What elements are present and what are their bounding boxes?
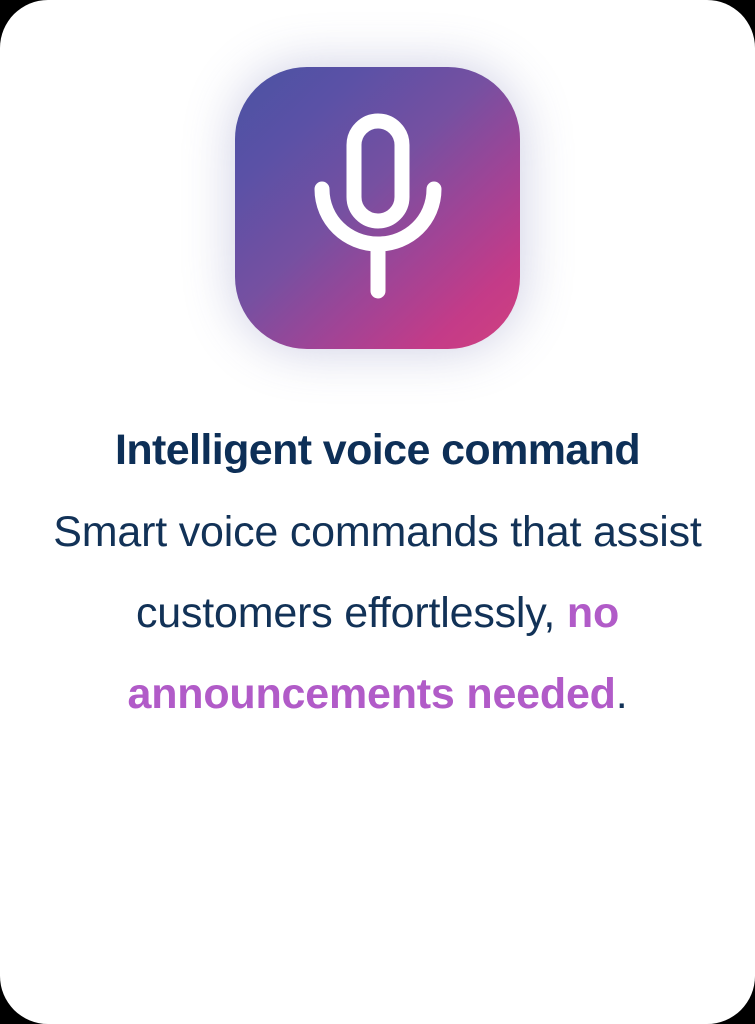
voice-icon-tile (235, 67, 520, 349)
voice-icon-container (235, 67, 520, 349)
feature-card: Intelligent voice command Smart voice co… (0, 0, 755, 1024)
description-tail: . (616, 670, 628, 718)
card-description: Smart voice commands that assist custome… (48, 492, 708, 734)
page-title: Intelligent voice command (115, 427, 640, 474)
microphone-icon (303, 113, 453, 303)
